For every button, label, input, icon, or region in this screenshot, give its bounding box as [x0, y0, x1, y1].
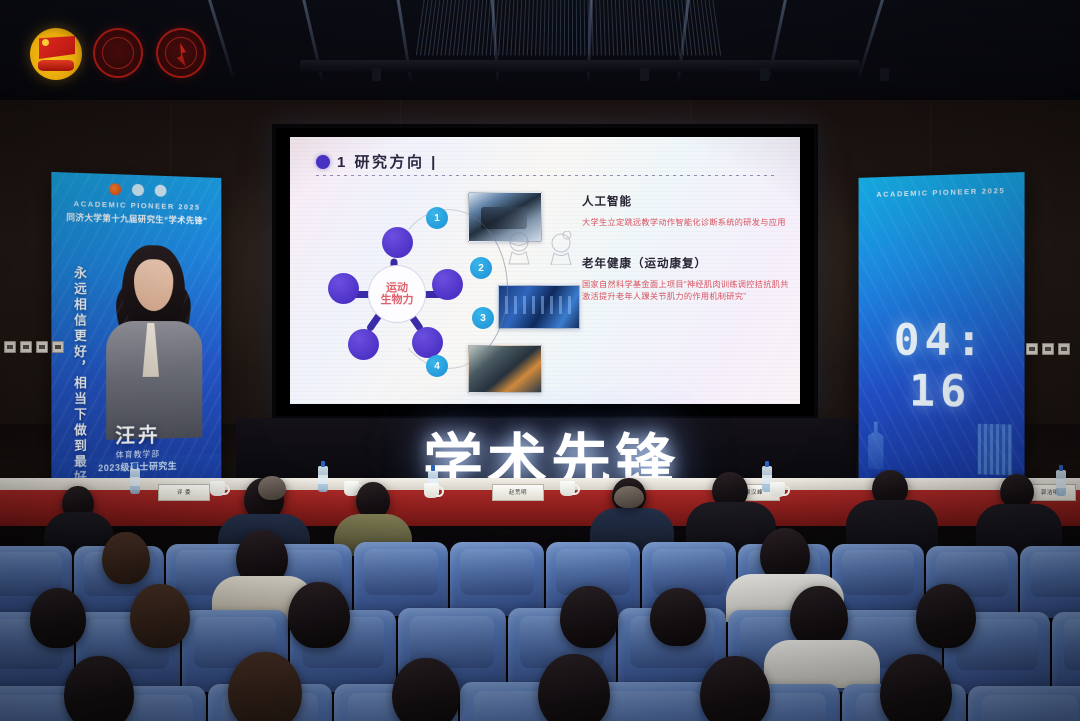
- mindmap-center-line2: 生物力: [381, 294, 414, 306]
- conference-hall-photo: [498, 285, 580, 329]
- banner-logo-icon-1: [109, 183, 121, 195]
- elderly-person-icon-1: [504, 231, 534, 265]
- wall-outlets-left: [4, 341, 64, 353]
- mindmap-node: [382, 227, 413, 258]
- mindmap-node: [348, 329, 379, 360]
- audience-head: [258, 476, 286, 500]
- power-outlet-icon: [1042, 343, 1054, 355]
- audience-head: [916, 584, 976, 648]
- audience-shoulders: [764, 640, 880, 688]
- ceiling-light-strip: [205, 0, 235, 78]
- section-body: 国家自然科学基金面上项目“神经肌肉训练调控拮抗肌共激活提升老年人踝关节肌力的作用…: [582, 279, 794, 304]
- tower-graphic-icon: [868, 422, 883, 470]
- ceiling-truss: [300, 60, 860, 72]
- banner-english-title: ACADEMIC PIONEER 2025: [51, 198, 221, 212]
- audience-seating: [0, 470, 1080, 721]
- ceiling-light-strip: [857, 0, 887, 78]
- mindmap-step-2: 2: [470, 257, 492, 279]
- timer-banner-title: ACADEMIC PIONEER 2025: [859, 185, 1025, 199]
- power-outlet-icon: [36, 341, 48, 353]
- power-outlet-icon: [1026, 343, 1038, 355]
- timer-display-banner: ACADEMIC PIONEER 2025 04: 16: [859, 172, 1025, 490]
- auditorium-scene: 1 研究方向 | 运动 生物力 1: [0, 0, 1080, 721]
- csc-seal-icon: [93, 28, 145, 80]
- slide-divider: [316, 175, 778, 176]
- banner-logo-icon-2: [132, 184, 144, 196]
- seat: [450, 542, 544, 616]
- speaker-name: 汪卉: [51, 417, 221, 450]
- spotlight: [640, 68, 649, 81]
- power-outlet-icon: [1058, 343, 1070, 355]
- seat: [1020, 546, 1080, 618]
- audience-head: [102, 532, 150, 584]
- section-heading: 人工智能: [582, 193, 794, 209]
- audience-head: [30, 588, 86, 648]
- audience-head: [356, 482, 390, 518]
- elderly-figures-illustration: [504, 231, 576, 265]
- banner-logo-row: [51, 181, 221, 198]
- section-body: 大学生立定跳远教学动作智能化诊断系统的研发与应用: [582, 217, 794, 229]
- seat: [968, 686, 1080, 721]
- mindmap-node: [432, 269, 463, 300]
- mindmap-step-1: 1: [426, 207, 448, 229]
- slide-section-ai: 人工智能 大学生立定跳远教学动作智能化诊断系统的研发与应用: [582, 193, 794, 229]
- mindmap-step-4: 4: [426, 355, 448, 377]
- audience-head: [650, 588, 706, 646]
- wall-outlets-right: [1026, 343, 1070, 355]
- spotlight: [760, 68, 769, 81]
- mindmap-node: [328, 273, 359, 304]
- audience-head: [790, 586, 848, 648]
- elderly-person-icon-2: [546, 231, 576, 265]
- banner-chinese-title: 同济大学第十九届研究生“学术先锋”: [51, 211, 221, 227]
- audience-head: [130, 584, 190, 648]
- spotlight: [372, 68, 381, 81]
- speaker-portrait: [96, 244, 210, 436]
- slide-title-text: 1 研究方向 |: [337, 151, 438, 172]
- building-graphic-icon: [978, 424, 1012, 476]
- section-heading: 老年健康（运动康复）: [582, 255, 794, 271]
- power-outlet-icon: [20, 341, 32, 353]
- ceiling-grille: [416, 0, 725, 56]
- banner-logo-icon-3: [155, 185, 167, 197]
- seat: [354, 542, 448, 616]
- slide-title: 1 研究方向 |: [316, 151, 438, 172]
- countdown-timer: 04: 16: [859, 315, 1025, 419]
- mindmap-center-node: 运动 生物力: [368, 265, 426, 323]
- communist-youth-league-badge: [30, 28, 82, 80]
- audience-head: [614, 486, 644, 508]
- audience-head: [1000, 474, 1034, 508]
- audience-head: [288, 582, 350, 648]
- mindmap-node: [412, 327, 443, 358]
- spotlight: [880, 68, 889, 81]
- seat: [1052, 612, 1080, 694]
- power-outlet-icon: [52, 341, 64, 353]
- power-outlet-icon: [4, 341, 16, 353]
- slide-section-elderly-health: 老年健康（运动康复） 国家自然科学基金面上项目“神经肌肉训练调控拮抗肌共激活提升…: [582, 255, 794, 304]
- audience-head: [560, 586, 618, 648]
- projection-screen: 1 研究方向 | 运动 生物力 1: [272, 124, 818, 420]
- mindmap-step-3: 3: [472, 307, 494, 329]
- speaker-standee-banner: ACADEMIC PIONEER 2025 同济大学第十九届研究生“学术先锋” …: [51, 172, 221, 493]
- university-seal-icon: [156, 28, 208, 80]
- emblem-row: [30, 28, 208, 80]
- mindmap-center-line1: 运动: [386, 282, 408, 294]
- seat: [832, 544, 924, 616]
- presentation-slide: 1 研究方向 | 运动 生物力 1: [290, 137, 800, 404]
- bullet-dot-icon: [316, 155, 330, 169]
